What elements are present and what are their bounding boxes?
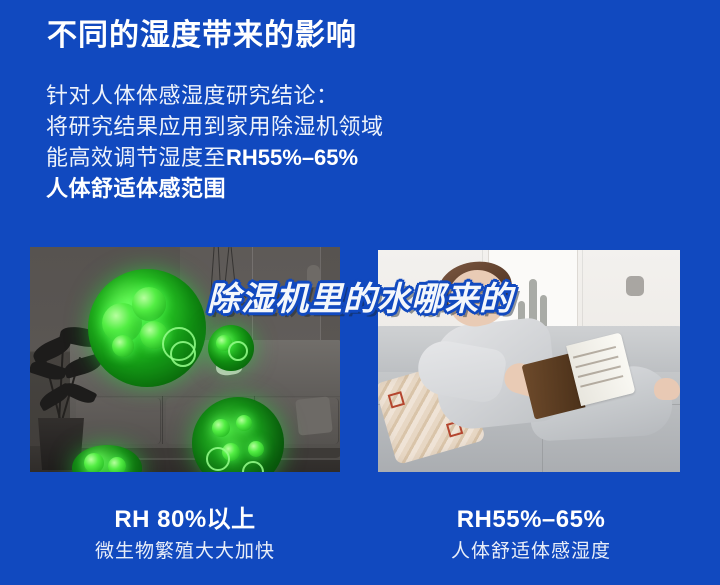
page-title: 不同的湿度带来的影响 <box>47 16 357 56</box>
caption-left: RH 80%以上 微生物繁殖大大加快 <box>35 505 335 565</box>
humidity-infographic-poster: 不同的湿度带来的影响 针对人体体感湿度研究结论： 将研究结果应用到家用除湿机领域… <box>0 0 720 585</box>
intro-line-3-range: RH55%–65% <box>226 145 358 170</box>
intro-line-3: 能高效调节湿度至RH55%–65% <box>46 142 566 173</box>
overlay-title: 除湿机里的水哪来的 <box>0 272 720 320</box>
caption-right: RH55%–65% 人体舒适体感湿度 <box>381 505 681 565</box>
caption-right-subtitle: 人体舒适体感湿度 <box>381 539 681 565</box>
intro-line-3-prefix: 能高效调节湿度至 <box>46 145 226 170</box>
woman-foot <box>654 378 680 400</box>
caption-group: RH 80%以上 微生物繁殖大大加快 RH55%–65% 人体舒适体感湿度 <box>0 505 720 585</box>
caption-left-subtitle: 微生物繁殖大大加快 <box>35 539 335 565</box>
dark-sofa-seam-1 <box>162 396 163 444</box>
caption-left-title: RH 80%以上 <box>35 505 335 535</box>
intro-paragraph: 针对人体体感湿度研究结论： 将研究结果应用到家用除湿机领域 能高效调节湿度至RH… <box>46 80 566 204</box>
dark-sofa-pillow <box>295 396 333 435</box>
woman-reading-figure <box>408 322 658 446</box>
germ-small-icon <box>208 325 254 371</box>
intro-line-2: 将研究结果应用到家用除湿机领域 <box>46 111 566 142</box>
caption-right-title: RH55%–65% <box>381 505 681 535</box>
intro-line-4: 人体舒适体感范围 <box>46 173 566 204</box>
intro-line-1: 针对人体体感湿度研究结论： <box>46 80 566 111</box>
